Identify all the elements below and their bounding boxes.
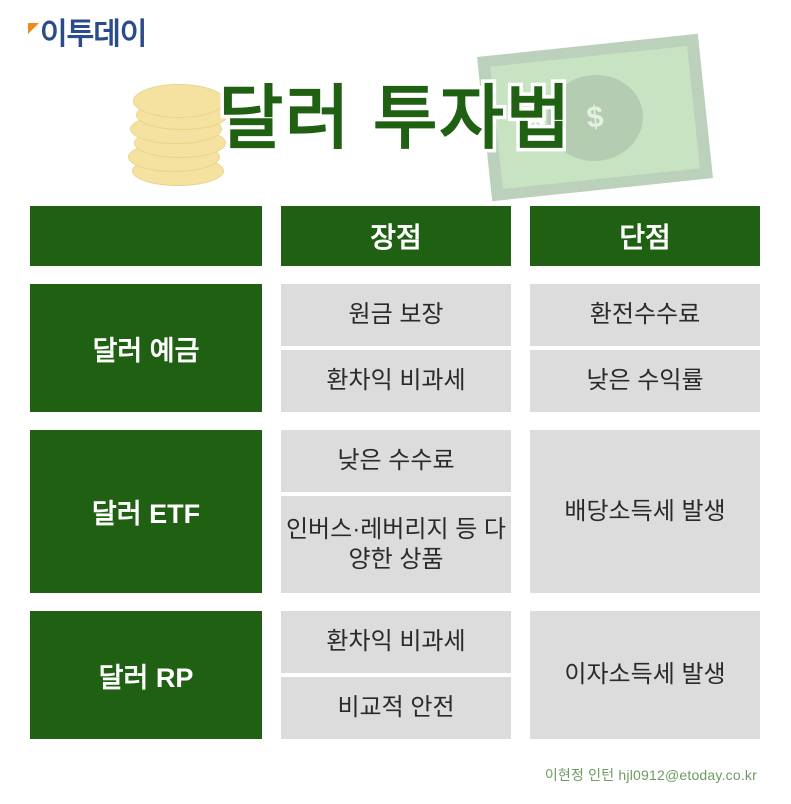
row-label-etf: 달러 ETF [30, 430, 262, 593]
table-row: 달러 예금 원금 보장 환차익 비과세 환전수수료 낮은 수익률 [30, 284, 760, 412]
pros-item: 낮은 수수료 [281, 430, 511, 492]
row-cons-etf: 배당소득세 발생 [530, 430, 760, 593]
pros-item: 환차익 비과세 [281, 611, 511, 673]
cons-item: 이자소득세 발생 [530, 611, 760, 739]
row-cons-deposit: 환전수수료 낮은 수익률 [530, 284, 760, 412]
table-header-pros: 장점 [281, 206, 511, 266]
author-credit: 이현정 인턴 hjl0912@etoday.co.kr [545, 765, 757, 785]
title-banner: $ $ 달러 투자법 [0, 45, 791, 195]
row-label-rp: 달러 RP [30, 611, 262, 739]
row-pros-etf: 낮은 수수료 인버스·레버리지 등 다양한 상품 [281, 430, 511, 593]
cons-item: 낮은 수익률 [530, 350, 760, 412]
pros-item: 인버스·레버리지 등 다양한 상품 [281, 496, 511, 593]
triangle-accent-icon [28, 23, 39, 34]
row-pros-deposit: 원금 보장 환차익 비과세 [281, 284, 511, 412]
page-title: 달러 투자법 [0, 83, 791, 153]
table-row: 달러 RP 환차익 비과세 비교적 안전 이자소득세 발생 [30, 611, 760, 739]
table-row: 달러 ETF 낮은 수수료 인버스·레버리지 등 다양한 상품 배당소득세 발생 [30, 430, 760, 593]
pros-item: 원금 보장 [281, 284, 511, 346]
table-header-corner [30, 206, 262, 266]
row-label-deposit: 달러 예금 [30, 284, 262, 412]
row-pros-rp: 환차익 비과세 비교적 안전 [281, 611, 511, 739]
pros-item: 비교적 안전 [281, 677, 511, 739]
row-cons-rp: 이자소득세 발생 [530, 611, 760, 739]
comparison-table: 장점 단점 달러 예금 원금 보장 환차익 비과세 환전수수료 낮은 수익률 달… [30, 206, 760, 757]
pros-item: 환차익 비과세 [281, 350, 511, 412]
table-header-cons: 단점 [530, 206, 760, 266]
table-header-row: 장점 단점 [30, 206, 760, 266]
cons-item: 환전수수료 [530, 284, 760, 346]
cons-item: 배당소득세 발생 [530, 430, 760, 593]
